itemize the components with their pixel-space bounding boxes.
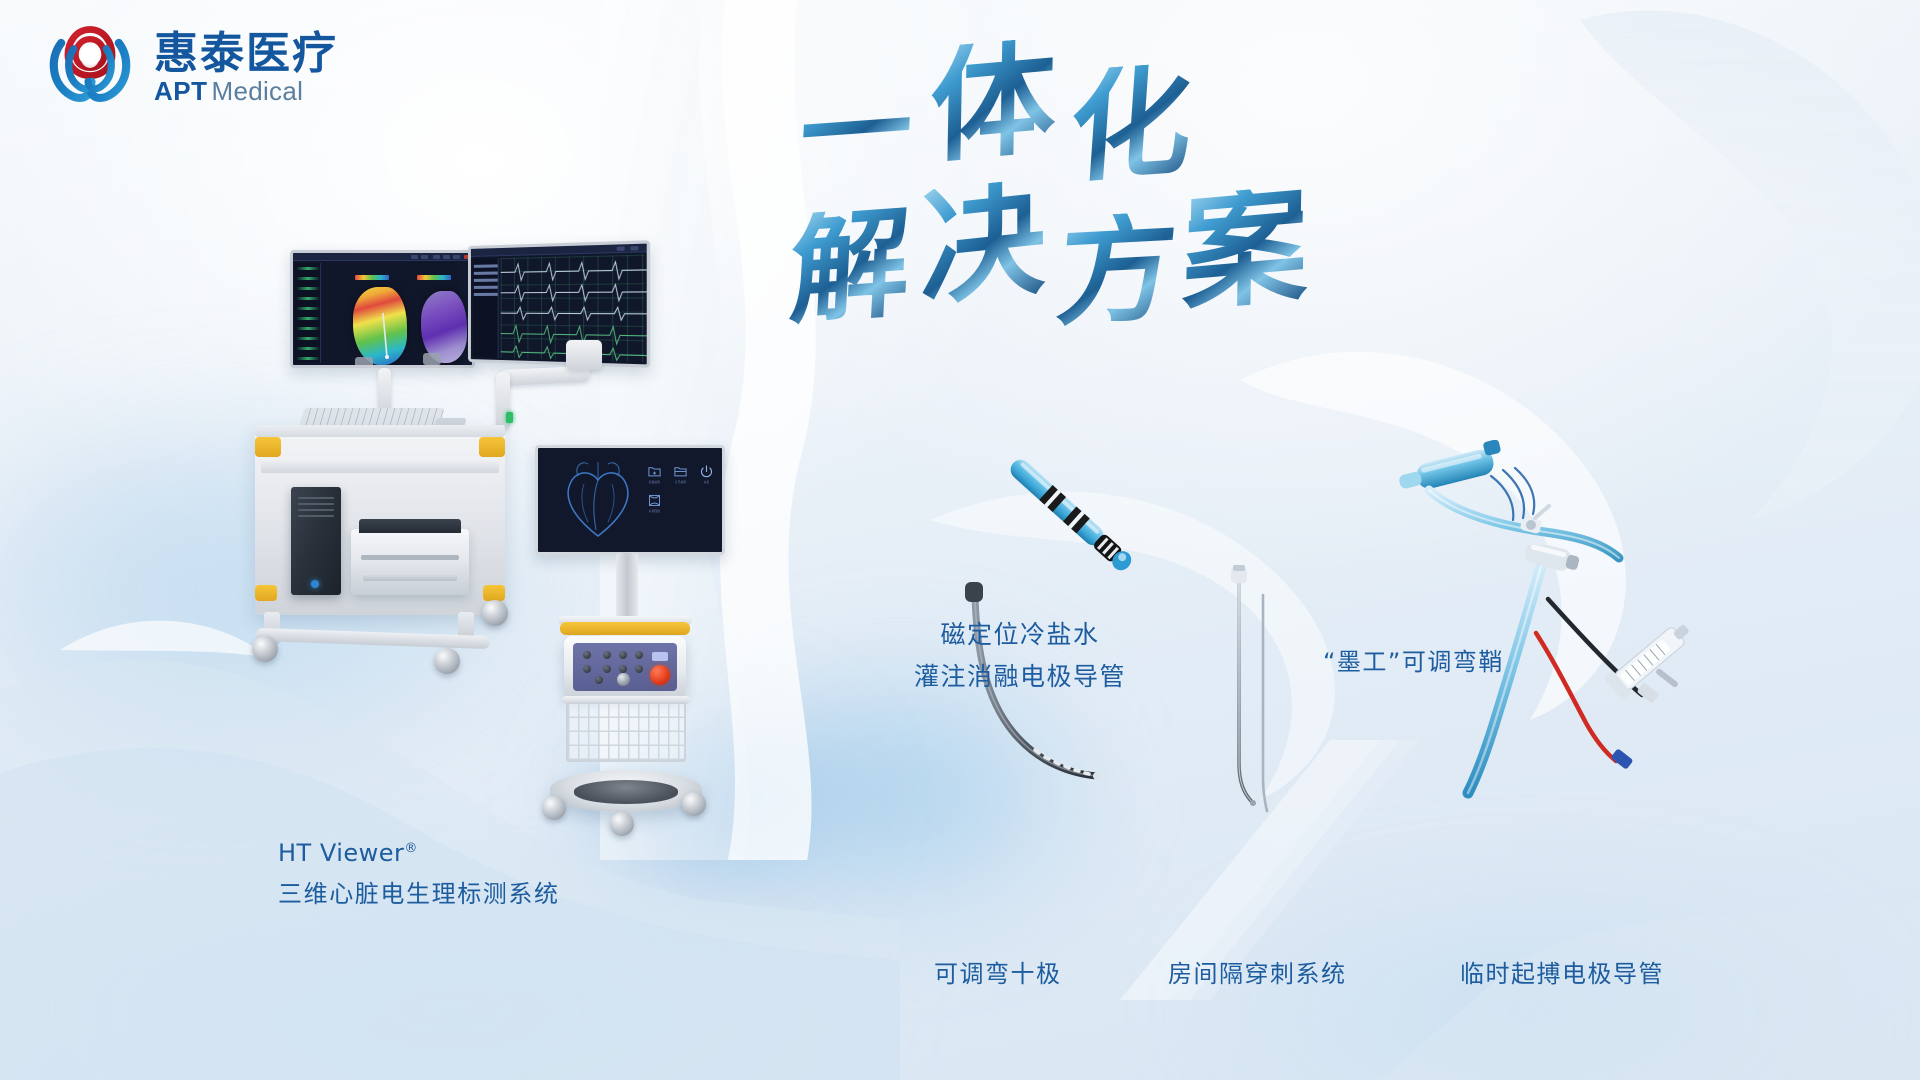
poster-canvas: 惠泰医疗 APT Medical 一 体 化 解 决 方 案 — [0, 0, 1920, 1080]
map-review-icon — [647, 493, 662, 508]
decapolar-catheter-caption: 可调弯十极 — [934, 957, 1062, 992]
rf-generator — [564, 636, 686, 698]
ht-viewer-name-en: HT Viewer — [278, 839, 404, 867]
mapping-monitor — [290, 250, 475, 368]
transseptal-needle — [1195, 565, 1315, 825]
cart-caster — [610, 812, 634, 836]
monitor-arm-mount — [566, 340, 602, 370]
pacing-catheter-caption: 临时起搏电极导管 — [1460, 957, 1664, 992]
ecg-monitor — [468, 240, 650, 368]
tower-power-led[interactable] — [311, 580, 319, 588]
brand-name-en-light: Medical — [212, 78, 304, 104]
ecg-channel-list — [473, 258, 499, 358]
ecg-side-panel — [295, 263, 321, 363]
headline-char-4: 解 — [787, 205, 913, 328]
monitor-toolbar — [293, 253, 472, 261]
power-button[interactable]: 关机 — [699, 464, 714, 484]
headline-char-1: 一 — [797, 76, 914, 191]
generator-main-connector[interactable] — [617, 673, 630, 686]
decapolar-catheter — [955, 580, 1115, 820]
ablation-catheter-caption: 磁定位冷盐水 灌注消融电极导管 — [860, 617, 1180, 696]
generator-port[interactable] — [583, 665, 591, 673]
generator-display — [652, 652, 668, 661]
brand-name-en-bold: APT — [154, 78, 208, 104]
open-case-label: 打开病例 — [673, 480, 688, 484]
cart-caster — [482, 600, 508, 626]
headline-char-6: 方 — [1053, 211, 1181, 330]
needle-hub — [1231, 565, 1247, 583]
trademark-symbol: ® — [404, 841, 418, 856]
headline-char-2: 体 — [929, 36, 1057, 167]
headline-char-5: 决 — [920, 177, 1045, 311]
generator-port[interactable] — [603, 665, 611, 673]
color-scale-right — [417, 275, 451, 280]
pacing-pin-connector-2 — [1610, 748, 1633, 770]
map-review-button[interactable]: 标测回顾 — [647, 493, 662, 513]
open-case-button[interactable]: 打开病例 — [673, 464, 688, 484]
apt-medical-double-heart-logo — [42, 18, 138, 114]
generator-port[interactable] — [583, 651, 591, 659]
cart-caster — [252, 636, 278, 662]
ablation-catheter-label-line2: 灌注消融电极导管 — [860, 659, 1180, 695]
map-review-label: 标测回顾 — [647, 509, 662, 513]
power-icon — [699, 464, 714, 479]
generator-port[interactable] — [635, 651, 643, 659]
brand-wordmark: 惠泰医疗 APT Medical — [154, 28, 338, 104]
open-case-folder-icon — [673, 464, 688, 479]
cart-handle-right[interactable] — [479, 437, 505, 457]
cart-tray-handle[interactable] — [560, 622, 690, 635]
generator-cart: 新建病例 打开病例 — [530, 440, 750, 860]
printer-paper-tray[interactable] — [363, 573, 457, 581]
cart-shelf — [261, 459, 499, 473]
color-scale-left — [355, 275, 389, 280]
generator-port[interactable] — [603, 651, 611, 659]
headline-char-3: 化 — [1066, 61, 1196, 186]
heart-display-button-group: 新建病例 打开病例 — [647, 464, 714, 513]
cart-caster — [434, 648, 460, 674]
ht-viewer-caption: HT Viewer® 三维心脏电生理标测系统 — [278, 836, 560, 912]
ecg-waveform-screen — [471, 244, 647, 365]
transseptal-system-caption: 房间隔穿刺系统 — [1168, 957, 1347, 992]
headline-calligraphy: 一 体 化 解 决 方 案 — [790, 32, 1350, 332]
catheter-overlay-icon — [379, 313, 397, 359]
3d-cardiac-map-screen — [293, 253, 472, 365]
generator-ground-port[interactable] — [595, 676, 603, 684]
brand-name-cn: 惠泰医疗 — [154, 32, 338, 76]
cart-base — [256, 628, 490, 649]
headline-char-7: 案 — [1181, 184, 1309, 315]
brand-logo: 惠泰医疗 APT Medical — [42, 18, 338, 114]
workstation-tower — [291, 487, 341, 595]
new-case-folder-icon — [647, 464, 662, 479]
report-printer — [351, 529, 469, 595]
ablation-catheter — [975, 445, 1175, 595]
keyboard[interactable] — [300, 408, 445, 425]
steerable-sheath-caption: “墨工”可调弯鞘 — [1323, 645, 1504, 680]
new-case-label: 新建病例 — [647, 480, 662, 484]
ablation-catheter-label-line1: 磁定位冷盐水 — [860, 617, 1180, 653]
heart-anatomy-icon — [554, 458, 642, 542]
power-label: 关机 — [699, 480, 714, 484]
rf-generator-panel — [573, 643, 677, 691]
heart-display-monitor: 新建病例 打开病例 — [535, 445, 725, 555]
power-dial-knob[interactable] — [650, 665, 670, 685]
cart-power-indicator — [506, 412, 513, 423]
cart-chassis — [255, 425, 505, 615]
generator-port[interactable] — [635, 665, 643, 673]
cart-caster — [542, 796, 566, 820]
generator-port[interactable] — [619, 651, 627, 659]
new-case-button[interactable]: 新建病例 — [647, 464, 662, 484]
generator-port[interactable] — [619, 665, 627, 673]
storage-basket — [566, 702, 686, 762]
cart-handle-left[interactable] — [255, 437, 281, 457]
brand-name-en: APT Medical — [154, 78, 338, 104]
ht-viewer-name-cn: 三维心脏电生理标测系统 — [278, 877, 560, 912]
cart-caster — [682, 792, 706, 816]
display-pole — [616, 553, 638, 625]
